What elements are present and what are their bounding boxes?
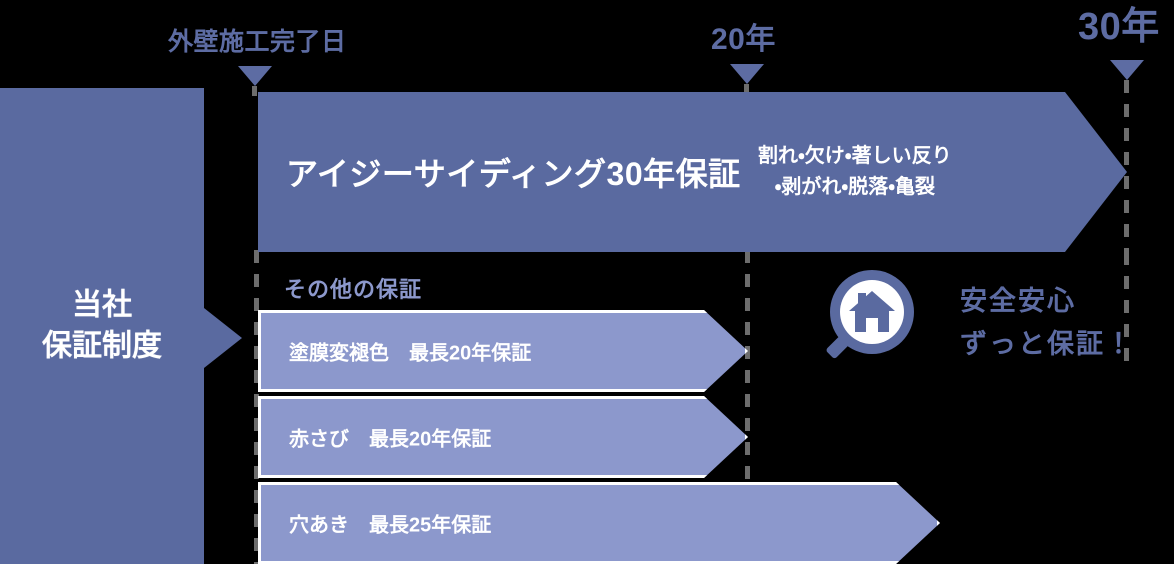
other-warranty-label-1: 塗膜変褪色 最長20年保証 bbox=[289, 337, 531, 366]
other-warranties-title: その他の保証 bbox=[284, 272, 422, 304]
company-warranty-panel-text: 当社 保証制度 bbox=[0, 285, 204, 368]
magnifier-house-icon bbox=[826, 266, 938, 378]
main-warranty-description: 割れ・欠け・著しい反り ・剥がれ・脱落・亀裂 bbox=[758, 141, 952, 203]
infographic-canvas: 外壁施工完了日 20年 30年 当社 保証制度 アイジーサイディング30年保証 … bbox=[0, 0, 1174, 564]
other-warranty-label-2: 赤さび 最長20年保証 bbox=[289, 423, 491, 452]
main-warranty-band: アイジーサイディング30年保証 割れ・欠け・著しい反り ・剥がれ・脱落・亀裂 bbox=[258, 92, 1127, 252]
main-warranty-description-line-2: ・剥がれ・脱落・亀裂 bbox=[758, 172, 952, 203]
timeline-marker-label-year-30: 30年 bbox=[1078, 8, 1160, 46]
other-warranty-bar-1: 塗膜変褪色 最長20年保証 bbox=[258, 310, 748, 392]
timeline-marker-triangle-year-20 bbox=[730, 64, 764, 84]
other-warranty-bar-3: 穴あき 最長25年保証 bbox=[258, 482, 940, 564]
assurance-slogan-line-2: ずっと保証！ bbox=[960, 323, 1134, 366]
company-warranty-line-1: 当社 bbox=[0, 285, 204, 326]
left-panel-arrow-icon bbox=[204, 308, 242, 368]
company-warranty-line-2: 保証制度 bbox=[0, 326, 204, 367]
assurance-slogan: 安全安心 ずっと保証！ bbox=[960, 280, 1134, 366]
timeline-marker-label-construction-complete: 外壁施工完了日 bbox=[168, 30, 347, 55]
company-warranty-panel: 当社 保証制度 bbox=[0, 88, 204, 564]
timeline-marker-label-year-20: 20年 bbox=[711, 25, 776, 55]
assurance-slogan-line-1: 安全安心 bbox=[960, 280, 1134, 323]
main-warranty-description-line-1: 割れ・欠け・著しい反り bbox=[758, 141, 952, 172]
other-warranty-bar-2: 赤さび 最長20年保証 bbox=[258, 396, 748, 478]
timeline-marker-triangle-construction-complete bbox=[238, 66, 272, 86]
main-warranty-title: アイジーサイディング30年保証 bbox=[286, 149, 741, 195]
other-warranty-label-3: 穴あき 最長25年保証 bbox=[289, 509, 491, 538]
timeline-marker-stem-construction-complete bbox=[252, 86, 257, 96]
timeline-marker-triangle-year-30 bbox=[1110, 60, 1144, 80]
